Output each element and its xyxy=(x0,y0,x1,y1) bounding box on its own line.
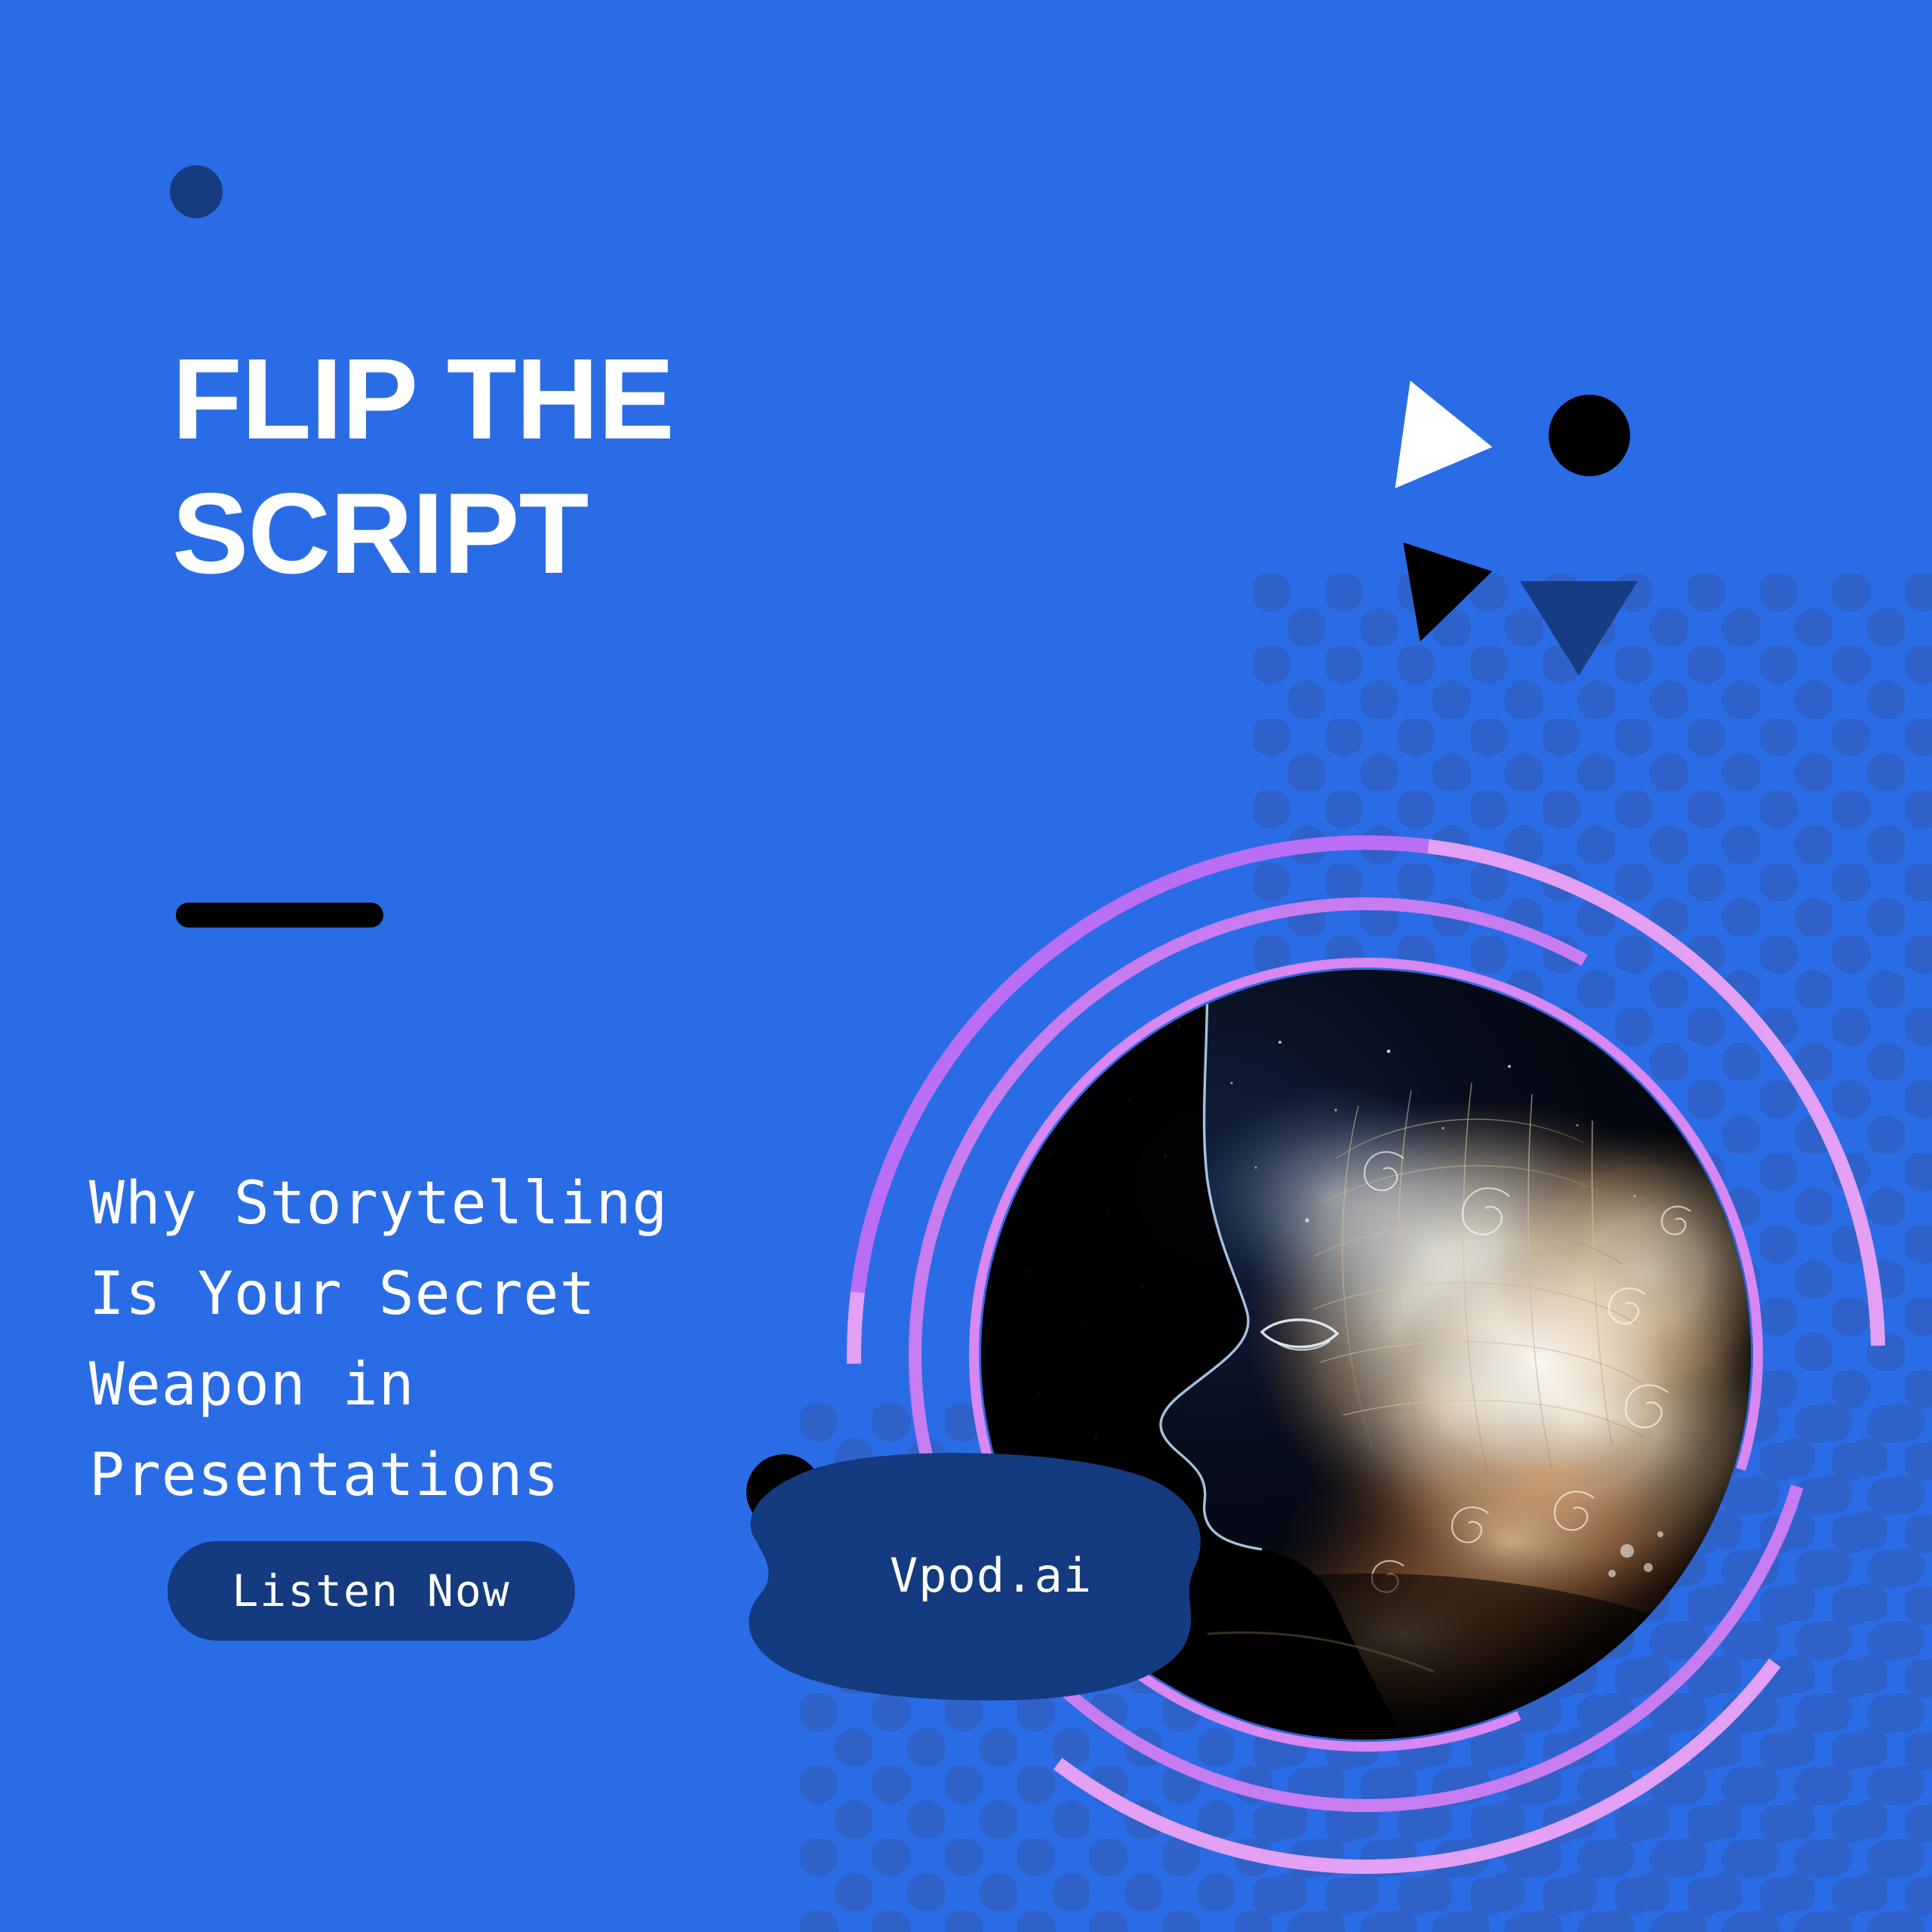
listen-now-button[interactable]: Listen Now xyxy=(168,1541,575,1641)
brand-badge-label: Vpod.ai xyxy=(743,1453,1211,1702)
black-bar-divider xyxy=(176,903,383,928)
black-circle-decoration xyxy=(1549,395,1630,476)
podcast-promo-poster: FLIP THE SCRIPT Why Storytelling Is Your… xyxy=(0,0,1932,1932)
black-triangle-icon xyxy=(1376,543,1492,657)
page-title: FLIP THE SCRIPT xyxy=(172,332,1002,601)
white-triangle-icon xyxy=(1395,380,1500,500)
brand-badge[interactable]: Vpod.ai xyxy=(743,1453,1211,1702)
navy-triangle-icon xyxy=(1520,581,1638,675)
navy-dot-decoration xyxy=(170,165,223,218)
